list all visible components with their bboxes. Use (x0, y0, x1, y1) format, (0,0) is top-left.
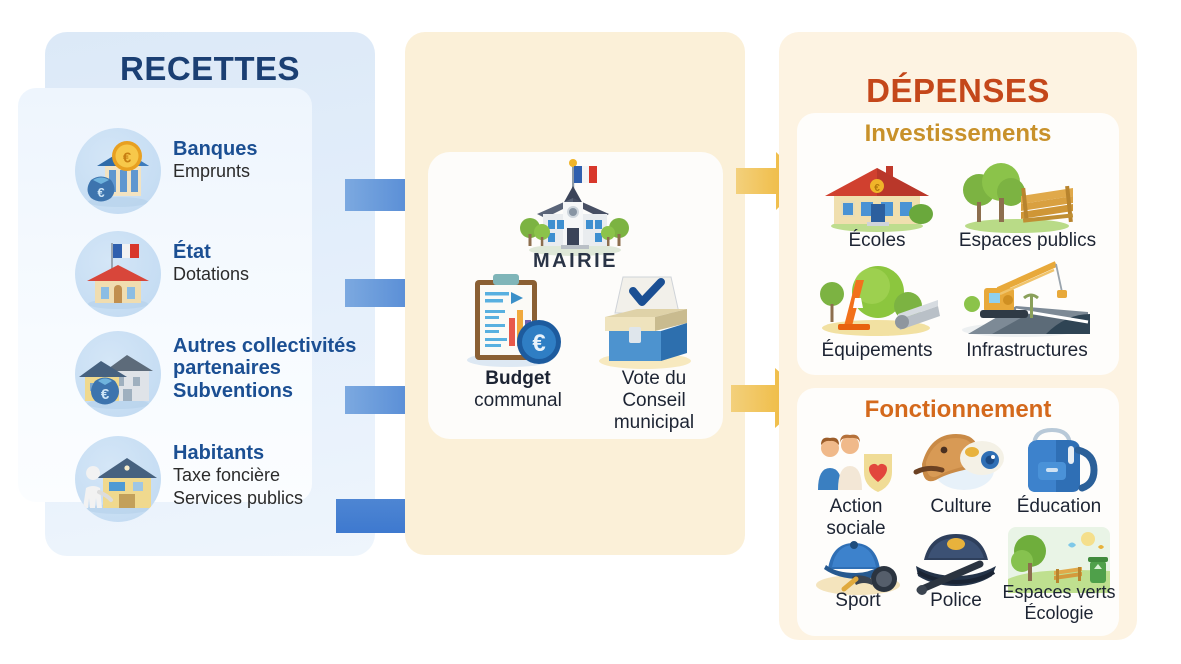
budget-communal-caption: Budget communal (448, 368, 588, 412)
svg-text:€: € (123, 150, 132, 167)
investissement-label-equipements: Équipements (812, 340, 942, 362)
infographic-canvas: RECETTES DE LA COMMUNE € € Banque (0, 0, 1181, 664)
investissement-label-infrastructures: Infrastructures (948, 340, 1106, 362)
culture-mask-palette-icon (912, 428, 1010, 494)
police-cap-baton-icon (906, 530, 1006, 598)
ballot-box-icon (583, 265, 708, 370)
revenue-item-habitants[interactable]: Habitants Taxe foncière Services publics (63, 436, 357, 522)
fonctionnement-label-action-sociale: Action sociale (810, 496, 902, 539)
fonctionnement-label-culture: Culture (912, 496, 1010, 518)
fonctionnement-label-espaces-verts: Espaces verts Écologie (1000, 582, 1118, 623)
park-bench-trees-icon (955, 158, 1080, 234)
fonctionnement-label-sport: Sport (812, 590, 904, 612)
resident-house-icon (75, 436, 161, 522)
revenue-item-banques[interactable]: € € Banques Emprunts (63, 128, 357, 214)
revenue-item-name: Banques (173, 138, 257, 160)
revenue-item-name-line1: Autres collectivités (173, 335, 356, 357)
revenue-item-name: État (173, 241, 249, 263)
town-hall-flag-icon (75, 231, 161, 317)
family-heart-shield-icon (810, 432, 902, 494)
caption-line-2: Conseil (594, 390, 714, 412)
revenue-item-sub-line1: Taxe foncière (173, 465, 303, 486)
revenue-item-text: État Dotations (173, 231, 249, 286)
clipboard-euro-icon: € (457, 268, 577, 368)
revenue-item-sub: Emprunts (173, 161, 257, 182)
revenue-item-sub: Dotations (173, 264, 249, 285)
revenue-item-sub: Subventions (173, 380, 356, 402)
fonctionnement-label-education: Éducation (1006, 496, 1112, 518)
school-house-euro-icon: € (817, 160, 937, 232)
caption-line-2: communal (448, 390, 588, 412)
sport-cap-whistle-icon (812, 535, 904, 597)
fonctionnement-label-police: Police (906, 590, 1006, 612)
svg-text:€: € (97, 185, 104, 200)
crane-road-icon (950, 252, 1090, 338)
caption-line-1: Vote du (594, 368, 714, 390)
investissement-label-espaces-publics: Espaces publics (945, 230, 1110, 252)
label-line-2: Écologie (1000, 603, 1118, 624)
fonctionnement-title: Fonctionnement (797, 396, 1119, 424)
caption-line-3: municipal (594, 412, 714, 434)
svg-text:€: € (874, 183, 880, 194)
houses-money-bag-icon: € (75, 331, 161, 417)
bank-euro-icon: € € (75, 128, 161, 214)
revenue-item-collectivites[interactable]: € Autres collectivités partenaires Subve… (63, 331, 357, 417)
investissements-title: Investissements (797, 120, 1119, 148)
revenue-item-text: Habitants Taxe foncière Services publics (173, 436, 303, 509)
label-line-1: Action (810, 496, 902, 518)
revenue-item-name: Habitants (173, 442, 303, 464)
svg-text:€: € (532, 330, 545, 357)
investissement-label-ecoles: Écoles (817, 230, 937, 252)
revenue-item-sub-line2: Services publics (173, 488, 303, 509)
revenue-item-text: Autres collectivités partenaires Subvent… (173, 331, 356, 402)
revenue-item-etat[interactable]: État Dotations (63, 231, 357, 317)
traffic-cone-equipment-icon (812, 260, 942, 338)
recettes-title: RECETTES (45, 50, 375, 88)
label-line-1: Espaces verts (1000, 582, 1118, 603)
school-backpack-icon (1016, 424, 1102, 496)
svg-text:€: € (101, 386, 110, 403)
revenue-item-text: Banques Emprunts (173, 128, 257, 183)
revenue-item-name-line2: partenaires (173, 357, 356, 379)
mairie-building-icon (515, 158, 635, 258)
vote-conseil-caption: Vote du Conseil municipal (594, 368, 714, 434)
depenses-title: DÉPENSES (779, 72, 1137, 110)
caption-line-1: Budget (448, 368, 588, 390)
